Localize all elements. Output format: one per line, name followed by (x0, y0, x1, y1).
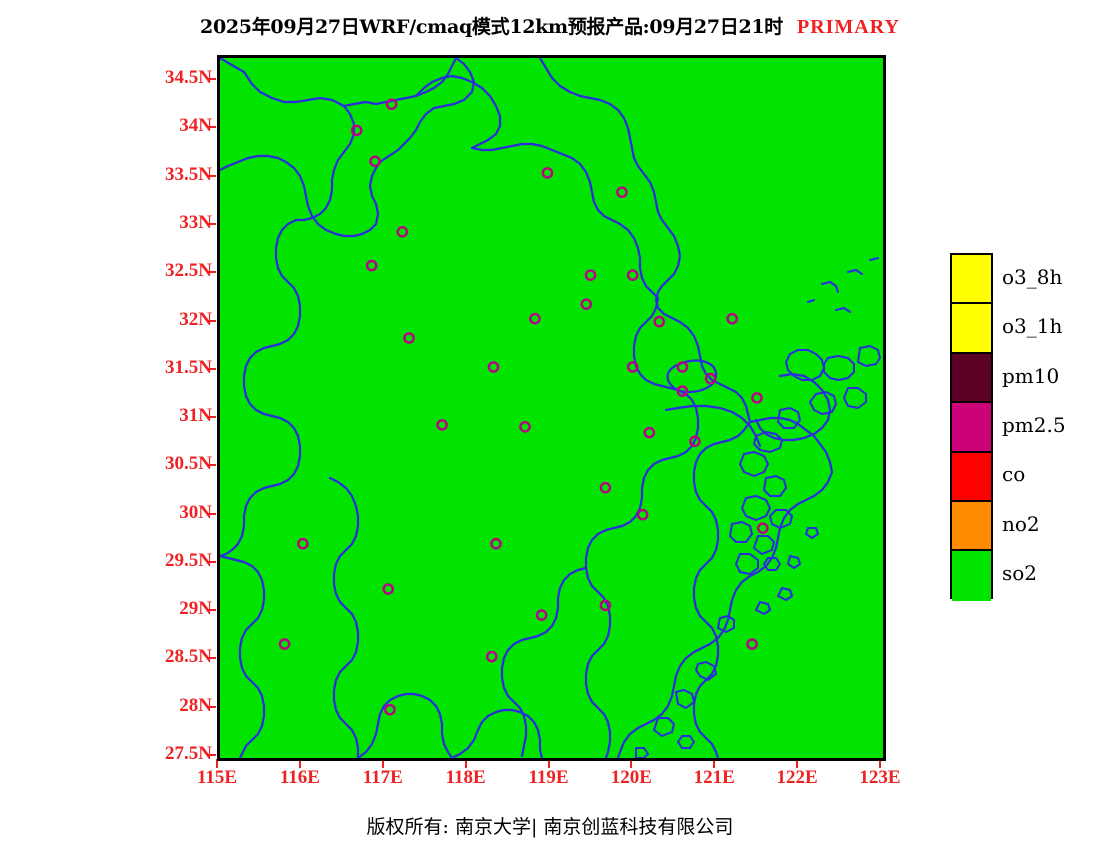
station-marker[interactable] (617, 188, 626, 197)
primary-pollutant-label: PRIMARY (797, 16, 900, 38)
copyright-footer: 版权所有: 南京大学| 南京创蓝科技有限公司 (0, 812, 1100, 839)
station-marker[interactable] (520, 422, 529, 431)
station-marker[interactable] (748, 640, 757, 649)
y-axis-tick-label: 33N (0, 212, 212, 234)
y-axis-tick-label: 34N (0, 115, 212, 137)
station-marker[interactable] (638, 510, 647, 519)
province-boundary-lines (220, 58, 880, 758)
y-axis-tick-mark (207, 175, 216, 177)
legend-swatch-co[interactable] (952, 453, 991, 502)
station-marker[interactable] (491, 539, 500, 548)
station-marker[interactable] (543, 168, 552, 177)
legend-label-so2: so2 (1002, 561, 1037, 585)
y-axis-tick-label: 29N (0, 598, 212, 620)
y-axis-tick-label: 30N (0, 502, 212, 524)
station-marker[interactable] (370, 157, 379, 166)
station-marker[interactable] (582, 300, 591, 309)
legend-swatch-so2[interactable] (952, 551, 991, 600)
legend-label-no2: no2 (1002, 512, 1040, 536)
station-marker[interactable] (530, 314, 539, 323)
station-marker[interactable] (280, 640, 289, 649)
station-marker[interactable] (586, 271, 595, 280)
x-axis-tick-label: 123E (835, 767, 925, 789)
y-axis-tick-mark (207, 657, 216, 659)
legend-swatch-pm10[interactable] (952, 354, 991, 403)
legend-label-o3_8h: o3_8h (1002, 265, 1062, 289)
x-axis-tick-label: 121E (669, 767, 759, 789)
station-marker[interactable] (298, 539, 307, 548)
station-marker[interactable] (628, 271, 637, 280)
x-axis-tick-label: 119E (504, 767, 594, 789)
legend-swatch-o3_1h[interactable] (952, 304, 991, 353)
y-axis-tick-mark (207, 416, 216, 418)
station-marker[interactable] (487, 652, 496, 661)
station-marker[interactable] (537, 611, 546, 620)
y-axis-tick-mark (207, 561, 216, 563)
y-axis-tick-mark (207, 609, 216, 611)
y-axis-tick-mark (207, 513, 216, 515)
station-marker[interactable] (398, 227, 407, 236)
y-axis-tick-mark (207, 271, 216, 273)
y-axis-tick-mark (207, 754, 216, 756)
y-axis-tick-label: 32.5N (0, 260, 212, 282)
y-axis-tick-label: 28N (0, 695, 212, 717)
legend-label-co: co (1002, 462, 1025, 486)
legend-label-o3_1h: o3_1h (1002, 314, 1062, 338)
x-axis-tick-label: 122E (752, 767, 842, 789)
y-axis-tick-label: 34.5N (0, 67, 212, 89)
map-plot-area[interactable] (217, 55, 886, 761)
map-geography-svg (220, 58, 883, 758)
y-axis-tick-label: 33.5N (0, 164, 212, 186)
y-axis-tick-label: 28.5N (0, 646, 212, 668)
legend-label-pm10: pm10 (1002, 364, 1059, 388)
chart-title-bar: 2025年09月27日WRF/cmaq模式12km预报产品:09月27日21时P… (0, 12, 1100, 39)
station-marker[interactable] (438, 420, 447, 429)
y-axis-tick-label: 30.5N (0, 453, 212, 475)
x-axis-tick-label: 115E (172, 767, 262, 789)
x-axis-tick-label: 117E (338, 767, 428, 789)
x-axis-tick-label: 116E (255, 767, 345, 789)
pollutant-legend (950, 253, 993, 599)
legend-swatch-no2[interactable] (952, 502, 991, 551)
station-marker[interactable] (385, 705, 394, 714)
station-marker[interactable] (758, 524, 767, 533)
x-axis-tick-label: 120E (586, 767, 676, 789)
station-marker[interactable] (655, 317, 664, 326)
y-axis-tick-mark (207, 320, 216, 322)
station-marker[interactable] (489, 362, 498, 371)
y-axis-tick-mark (207, 368, 216, 370)
legend-swatch-pm2-5[interactable] (952, 403, 991, 452)
y-axis-tick-label: 29.5N (0, 550, 212, 572)
y-axis-tick-label: 27.5N (0, 743, 212, 765)
y-axis-tick-mark (207, 78, 216, 80)
y-axis-tick-mark (207, 464, 216, 466)
station-marker[interactable] (728, 314, 737, 323)
legend-swatch-o3_8h[interactable] (952, 255, 991, 304)
y-axis-tick-mark (207, 706, 216, 708)
page-title: 2025年09月27日WRF/cmaq模式12km预报产品:09月27日21时 (200, 16, 783, 38)
legend-label-pm2-5: pm2.5 (1002, 413, 1066, 437)
y-axis-tick-mark (207, 223, 216, 225)
station-marker[interactable] (384, 584, 393, 593)
y-axis-tick-label: 31N (0, 405, 212, 427)
y-axis-tick-mark (207, 126, 216, 128)
y-axis-tick-label: 32N (0, 309, 212, 331)
station-marker[interactable] (645, 428, 654, 437)
station-marker[interactable] (404, 333, 413, 342)
station-marker[interactable] (601, 483, 610, 492)
x-axis-tick-label: 118E (421, 767, 511, 789)
station-marker[interactable] (752, 393, 761, 402)
y-axis-tick-label: 31.5N (0, 357, 212, 379)
station-marker[interactable] (367, 261, 376, 270)
